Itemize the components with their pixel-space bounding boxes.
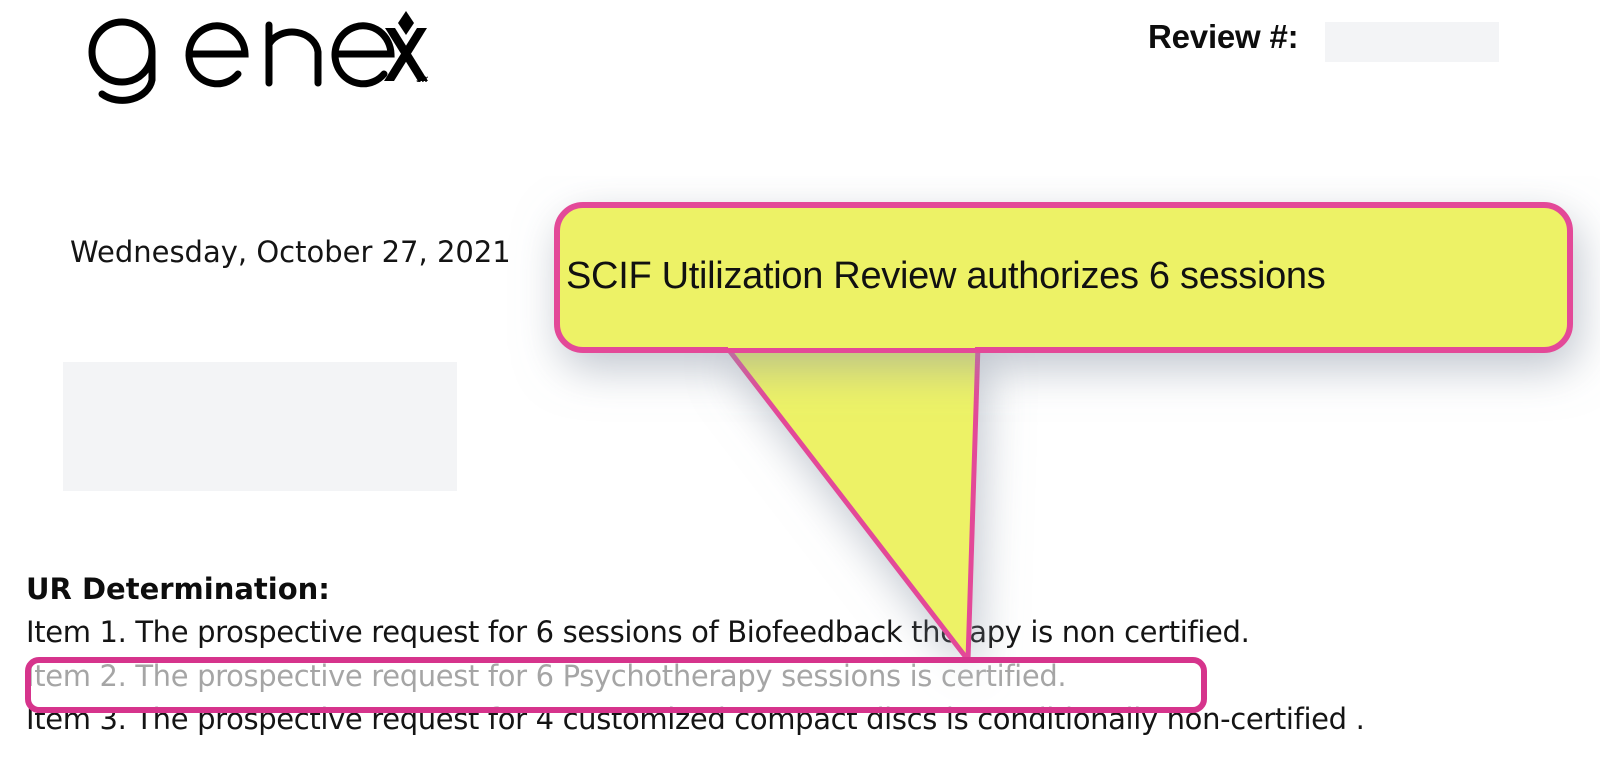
ur-determination-heading: UR Determination: — [26, 572, 330, 606]
callout-text: SCIF Utilization Review authorizes 6 ses… — [566, 255, 1556, 298]
callout-seam-mask — [728, 330, 975, 348]
document-date: Wednesday, October 27, 2021 — [70, 235, 511, 269]
ur-item-2: Item 2. The prospective request for 6 Ps… — [26, 659, 1066, 693]
address-redaction-block — [63, 362, 457, 491]
callout-tail — [725, 345, 978, 660]
ur-item-1: Item 1. The prospective request for 6 se… — [26, 615, 1249, 649]
document-page: sm Review #: Wednesday, October 27, 2021… — [0, 0, 1600, 777]
review-number-redaction — [1325, 22, 1499, 62]
review-number-label: Review #: — [1148, 18, 1298, 56]
genex-logo: sm — [78, 8, 428, 108]
ur-item-3: Item 3. The prospective request for 4 cu… — [26, 702, 1364, 736]
logo-sm-mark: sm — [416, 74, 428, 85]
